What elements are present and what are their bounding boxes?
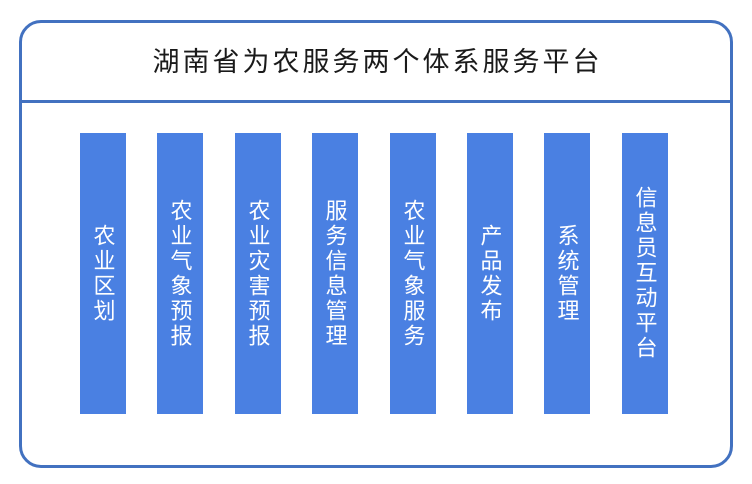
module-label-wrap: 产品发布 [467,133,513,414]
diagram-canvas: 湖南省为农服务两个体系服务平台 农业区划 农业气象预报 农业灾害预报 [0,0,752,484]
module-block-agrometeorological-service[interactable]: 农业气象服务 [390,133,436,414]
module-label: 信息员互动平台 [632,186,657,361]
module-label: 农业灾害预报 [245,199,270,349]
module-label-wrap: 农业气象预报 [157,133,203,414]
module-label: 产品发布 [477,224,502,324]
module-block-agrometeorological-forecast[interactable]: 农业气象预报 [157,133,203,414]
module-label: 农业区划 [90,224,115,324]
module-block-service-information-management[interactable]: 服务信息管理 [312,133,358,414]
modules-row: 农业区划 农业气象预报 农业灾害预报 服务信息管理 农业 [22,103,730,468]
module-label: 系统管理 [554,224,579,324]
module-label-wrap: 系统管理 [544,133,590,414]
module-label-wrap: 农业灾害预报 [235,133,281,414]
module-block-agricultural-disaster-forecast[interactable]: 农业灾害预报 [235,133,281,414]
module-block-system-management[interactable]: 系统管理 [544,133,590,414]
module-label: 农业气象服务 [400,199,425,349]
module-block-product-release[interactable]: 产品发布 [467,133,513,414]
module-label-wrap: 服务信息管理 [312,133,358,414]
page-title: 湖南省为农服务两个体系服务平台 [150,48,603,78]
module-label: 服务信息管理 [322,199,347,349]
title-band: 湖南省为农服务两个体系服务平台 [22,23,730,103]
module-block-information-officer-interaction-platform[interactable]: 信息员互动平台 [622,133,668,414]
module-block-agricultural-zoning[interactable]: 农业区划 [80,133,126,414]
module-label-wrap: 农业区划 [80,133,126,414]
module-label-wrap: 农业气象服务 [390,133,436,414]
module-label-wrap: 信息员互动平台 [622,133,668,414]
platform-panel: 湖南省为农服务两个体系服务平台 农业区划 农业气象预报 农业灾害预报 [19,20,733,468]
module-label: 农业气象预报 [167,199,192,349]
